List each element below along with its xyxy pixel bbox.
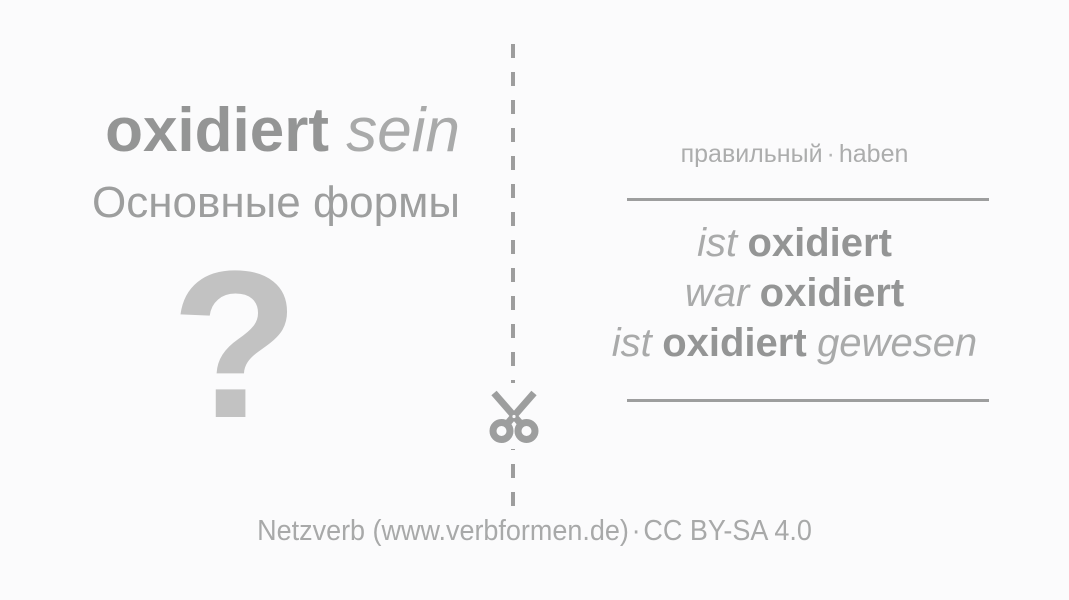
form-participle: oxidiert [662,321,806,365]
form-row-past: waroxidiert [520,268,1069,318]
header-separator: · [823,140,839,168]
left-panel: oxidiert sein Основные формы ? [0,0,470,600]
rule-top [627,198,989,201]
verb-classification: правильный [681,140,823,168]
form-participle: oxidiert [760,271,904,315]
footer-credit: Netzverb (www.verbformen.de)·CC BY-SA 4.… [37,512,1031,550]
form-participle: oxidiert [747,221,891,265]
question-mark-icon: ? [0,240,468,450]
title-auxiliary: sein [346,96,460,165]
form-auxiliary: ist [612,321,652,365]
principal-parts-list: istoxidiert waroxidiert istoxidiertgewes… [520,218,1069,368]
right-panel: правильный·haben istoxidiert waroxidiert… [520,0,1069,600]
footer-source: Netzverb (www.verbformen.de) [257,515,629,547]
form-tail: gewesen [817,321,977,365]
form-row-present: istoxidiert [520,218,1069,268]
verb-forms-card: oxidiert sein Основные формы ? правильны… [0,0,1069,600]
rule-bottom [627,399,989,402]
page-title: oxidiert sein [0,95,460,167]
form-row-perfect: istoxidiertgewesen [520,318,1069,368]
footer-license: CC BY-SA 4.0 [643,515,811,547]
form-auxiliary: ist [697,221,737,265]
footer-separator: · [629,515,644,547]
conjugation-header: правильный·haben [520,138,1069,170]
page-subtitle: Основные формы [0,177,460,229]
title-verb: oxidiert [105,96,329,165]
header-auxiliary: haben [839,140,909,168]
form-auxiliary: war [685,271,749,315]
